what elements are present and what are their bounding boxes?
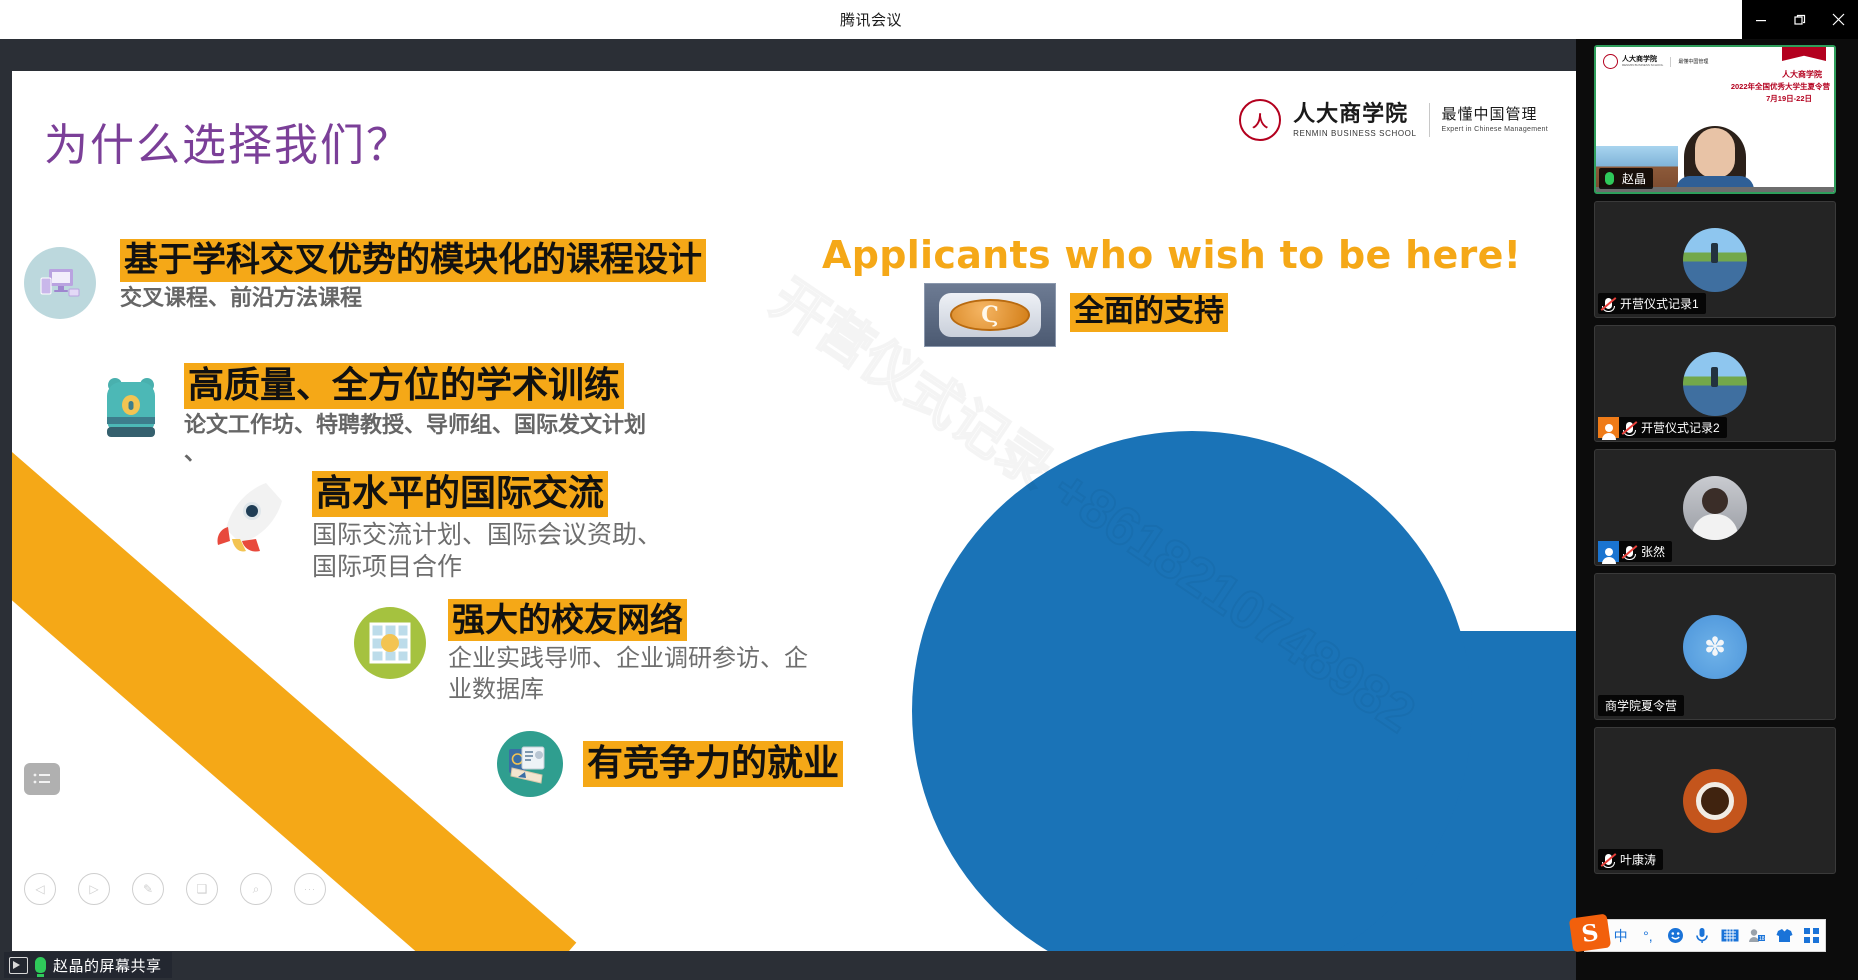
participant-name-1: 开营仪式记录1 (1618, 295, 1706, 312)
tencent-meeting-window: 腾讯会议 开营仪式记录 +8618210748982 (0, 0, 1858, 980)
minimize-icon[interactable] (1744, 5, 1778, 35)
presentation-slide[interactable]: 开营仪式记录 +8618210748982 为什么选择我们？ 人 人大商学院 R… (12, 71, 1576, 951)
support-label: 全面的支持 (1070, 293, 1228, 332)
preview-logo: 人大商学院 RENMIN BUSINESS SCHOOL 最懂中国管理 (1603, 54, 1708, 69)
participant-tile-4[interactable]: 商学院夏令营 (1594, 573, 1836, 720)
preview-logo-divider (1670, 57, 1671, 67)
participant-tile-5[interactable]: 叶康涛 (1594, 727, 1836, 874)
bullet-sub-4: 企业实践导师、企业调研参访、企业数据库 (448, 643, 818, 704)
soft-keyboard-icon[interactable] (1716, 929, 1743, 942)
mic-off-icon (1619, 418, 1639, 438)
school-tagline-cn: 最懂中国管理 (1442, 107, 1548, 122)
participant-namebar-5: 叶康涛 (1598, 849, 1663, 870)
rocket-icon (212, 477, 290, 555)
participant-namebar-0: 赵晶 (1599, 168, 1653, 189)
close-icon[interactable] (1822, 5, 1856, 35)
screen-share-icon (9, 957, 28, 974)
school-seal-icon: 人 (1239, 99, 1281, 141)
bullet-row-5: 有竞争力的就业 (497, 731, 843, 797)
window-title: 腾讯会议 (840, 9, 902, 30)
zoom-magnifier-icon[interactable]: ⌕ (240, 873, 272, 905)
avatar (1683, 352, 1747, 416)
language-mode-icon[interactable]: 中 (1607, 926, 1634, 946)
slide-control-bar: ◁ ▷ ✎ ❑ ⌕ ··· (24, 873, 326, 905)
participant-namebar-2: 开营仪式记录2 (1598, 417, 1727, 438)
avatar (1683, 228, 1747, 292)
window-controls (1742, 0, 1858, 39)
participant-tile-1[interactable]: 开营仪式记录1 (1594, 201, 1836, 318)
bullet-heading-1: 基于学科交叉优势的模块化的课程设计 (120, 239, 706, 282)
english-headline: Applicants who wish to be here! (822, 233, 1521, 277)
participant-rail[interactable]: 人大商学院 RENMIN BUSINESS SCHOOL 最懂中国管理 人大商学… (1576, 39, 1858, 980)
bullet-sub-2: 论文工作坊、特聘教授、导师组、国际发文计划 、 (184, 411, 646, 467)
host-badge-icon (1598, 417, 1619, 438)
skin-theme-icon[interactable] (1771, 928, 1798, 943)
school-name-cn: 人大商学院 (1293, 103, 1416, 125)
participant-tile-3[interactable]: 张然 (1594, 449, 1836, 566)
emoji-picker-icon[interactable] (1662, 927, 1689, 944)
avatar (1683, 476, 1747, 540)
avatar (1683, 615, 1747, 679)
voice-input-icon[interactable] (1689, 927, 1716, 944)
bullet-heading-3: 高水平的国际交流 (312, 471, 608, 517)
shared-screen-stage: 开营仪式记录 +8618210748982 为什么选择我们？ 人 人大商学院 R… (0, 39, 1576, 980)
school-logo: 人 人大商学院 RENMIN BUSINESS SCHOOL 最懂中国管理 Ex… (1239, 99, 1548, 141)
participant-name-4: 商学院夏令营 (1598, 697, 1684, 714)
participant-namebar-4: 商学院夏令营 (1598, 695, 1684, 716)
bullet-heading-2: 高质量、全方位的学术训练 (184, 363, 624, 409)
monitor-device-icon (24, 247, 96, 319)
mic-off-icon (1619, 542, 1639, 562)
maximize-icon[interactable] (1783, 5, 1817, 35)
user-profile-icon[interactable]: 18 (1743, 928, 1770, 943)
meeting-body: 开营仪式记录 +8618210748982 为什么选择我们？ 人 人大商学院 R… (0, 39, 1858, 980)
backpack-icon (100, 373, 162, 445)
bullet-row-3: 高水平的国际交流 国际交流计划、国际会议资助、国际项目合作 (212, 471, 912, 583)
sogou-ime-toolbar[interactable]: S 中 °, 18 (1584, 919, 1826, 952)
preview-seal-icon (1603, 54, 1618, 69)
participant-tile-2[interactable]: 开营仪式记录2 (1594, 325, 1836, 442)
previous-slide-icon[interactable]: ◁ (24, 873, 56, 905)
participant-name-2: 开营仪式记录2 (1639, 419, 1727, 436)
bullet-sub-1: 交叉课程、前沿方法课程 (120, 284, 706, 312)
chip-glyph: Ϛ (950, 299, 1029, 331)
preview-line-2: 2022年全国优秀大学生夏令营 (1731, 81, 1830, 92)
mic-on-icon (1599, 168, 1620, 189)
mic-off-icon (1598, 294, 1618, 314)
chip-image: Ϛ (924, 283, 1056, 347)
avatar (1683, 769, 1747, 833)
preview-logo-cn: 人大商学院 (1622, 56, 1663, 63)
share-banner-label: 赵晶的屏幕共享 (53, 955, 162, 976)
annotate-pen-icon[interactable]: ✎ (132, 873, 164, 905)
bullet-row-4: 强大的校友网络 企业实践导师、企业调研参访、企业数据库 (354, 599, 1054, 705)
preview-line-3: 7月19日-22日 (1766, 93, 1812, 104)
preview-logo-tag: 最懂中国管理 (1678, 58, 1708, 65)
bullet-row-2: 高质量、全方位的学术训练 论文工作坊、特聘教授、导师组、国际发文计划 、 (100, 363, 860, 467)
preview-logo-en: RENMIN BUSINESS SCHOOL (1622, 63, 1663, 67)
preview-line-1: 人大商学院 (1782, 69, 1822, 80)
screen-share-banner: 赵晶的屏幕共享 (4, 952, 172, 978)
punctuation-mode-icon[interactable]: °, (1634, 928, 1661, 944)
toolbox-icon[interactable] (1798, 928, 1825, 943)
slide-thumbnails-icon[interactable]: ❑ (186, 873, 218, 905)
participant-name-5: 叶康涛 (1618, 851, 1663, 868)
bullet-heading-5: 有竞争力的就业 (583, 741, 843, 787)
mic-off-icon (1598, 850, 1618, 870)
bullet-sub-3: 国际交流计划、国际会议资助、国际项目合作 (312, 519, 672, 583)
school-tagline-en: Expert in Chinese Management (1442, 126, 1548, 133)
participant-tile-0[interactable]: 人大商学院 RENMIN BUSINESS SCHOOL 最懂中国管理 人大商学… (1594, 45, 1836, 194)
list-menu-icon[interactable] (24, 763, 60, 795)
sogou-logo-icon[interactable]: S (1569, 914, 1611, 953)
participant-name-0: 赵晶 (1620, 170, 1653, 187)
cohost-badge-icon (1598, 541, 1619, 562)
logo-divider (1429, 103, 1430, 137)
more-options-icon[interactable]: ··· (294, 873, 326, 905)
title-bar: 腾讯会议 (0, 0, 1742, 39)
slide-title: 为什么选择我们？ (44, 109, 412, 173)
preview-ribbon (1782, 47, 1826, 61)
participant-namebar-3: 张然 (1598, 541, 1672, 562)
bullet-row-1: 基于学科交叉优势的模块化的课程设计 交叉课程、前沿方法课程 (24, 239, 784, 319)
play-slideshow-icon[interactable]: ▷ (78, 873, 110, 905)
grid-window-icon (354, 607, 426, 679)
preview-speaker-video (1680, 116, 1750, 192)
passport-ticket-icon (497, 731, 563, 797)
bullet-heading-4: 强大的校友网络 (448, 599, 687, 641)
participant-namebar-1: 开营仪式记录1 (1598, 293, 1706, 314)
participant-name-3: 张然 (1639, 543, 1672, 560)
svg-text:18: 18 (1759, 936, 1765, 942)
school-name-en: RENMIN BUSINESS SCHOOL (1293, 129, 1416, 138)
mic-on-icon (35, 957, 46, 973)
